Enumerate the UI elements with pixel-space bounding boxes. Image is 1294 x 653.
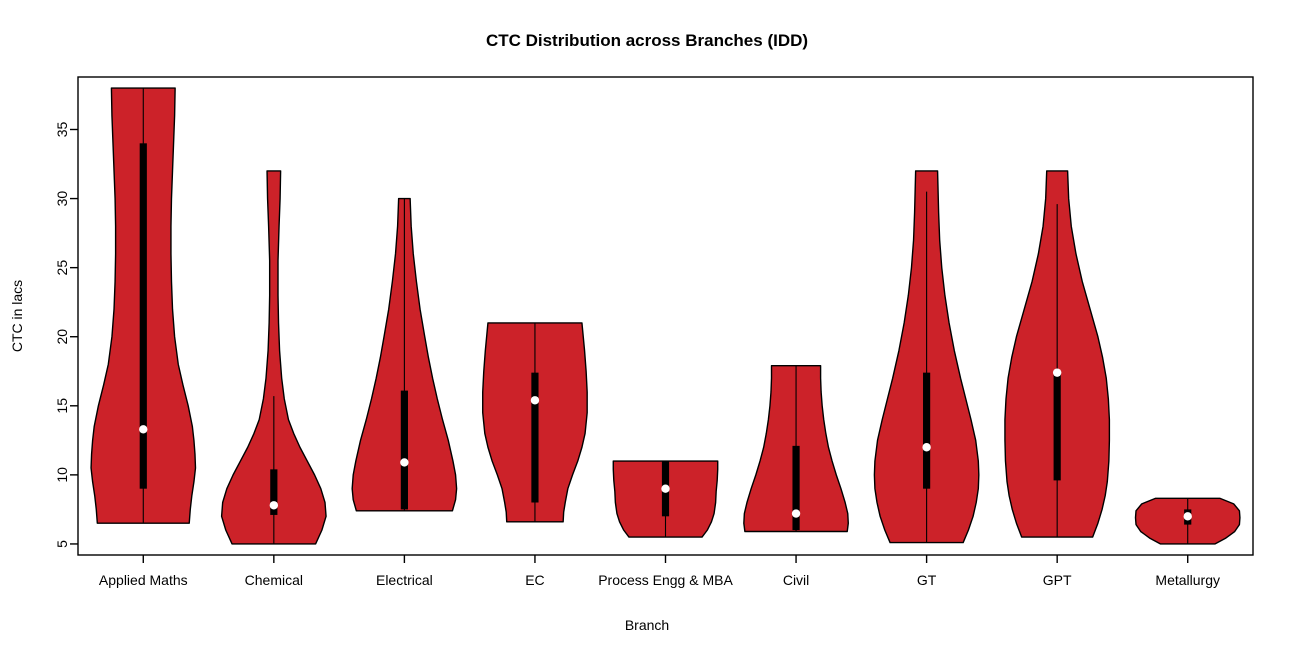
violin-electrical[interactable] [352,199,456,511]
violin-ec[interactable] [483,323,587,522]
iqr-box [401,391,408,510]
y-axis-tick-label: 5 [54,540,70,548]
x-axis-tick-label: Chemical [245,572,303,588]
plot-title-group: CTC Distribution across Branches (IDD) [486,31,808,50]
violin-civil[interactable] [744,366,848,532]
violin-plot-canvas: CTC Distribution across Branches (IDD) 5… [0,0,1294,653]
violin-metallurgy[interactable] [1136,498,1240,544]
iqr-box [923,373,930,489]
median-marker [270,501,278,509]
violin-applied-maths[interactable] [91,88,195,523]
x-axis-tick-label: Metallurgy [1155,572,1220,588]
median-marker [400,458,408,466]
median-marker [531,396,539,404]
median-marker [792,509,800,517]
x-axis-tick-label: Process Engg & MBA [598,572,733,588]
violin-plot-page: CTC Distribution across Branches (IDD) 5… [0,0,1294,653]
y-axis-tick-label: 30 [54,191,70,207]
iqr-box [140,143,147,488]
median-marker [1184,512,1192,520]
violin-gt[interactable] [874,171,978,543]
x-axis-tick-label: Electrical [376,572,433,588]
y-axis-tick-label: 15 [54,398,70,414]
y-axis-tick-label: 35 [54,122,70,138]
violin-process-engg-mba[interactable] [613,461,717,537]
x-axis-tick-label: EC [525,572,544,588]
iqr-box [531,373,538,503]
x-axis-tick-label: Civil [783,572,809,588]
x-axis-tick-label: Applied Maths [99,572,188,588]
violins-layer [91,88,1240,544]
y-axis-tick-label: 20 [54,329,70,345]
y-axis-title: CTC in lacs [9,280,25,352]
iqr-box [1054,373,1061,481]
median-marker [1053,368,1061,376]
violin-gpt[interactable] [1005,171,1109,537]
x-axis-title: Branch [625,617,669,633]
violin-chemical[interactable] [222,171,326,544]
y-axis-tick-label: 25 [54,260,70,276]
median-marker [661,484,669,492]
page-title: CTC Distribution across Branches (IDD) [486,31,808,50]
x-axis-tick-label: GT [917,572,937,588]
median-marker [922,443,930,451]
x-axis-tick-label: GPT [1043,572,1072,588]
median-marker [139,425,147,433]
y-axis-tick-label: 10 [54,467,70,483]
